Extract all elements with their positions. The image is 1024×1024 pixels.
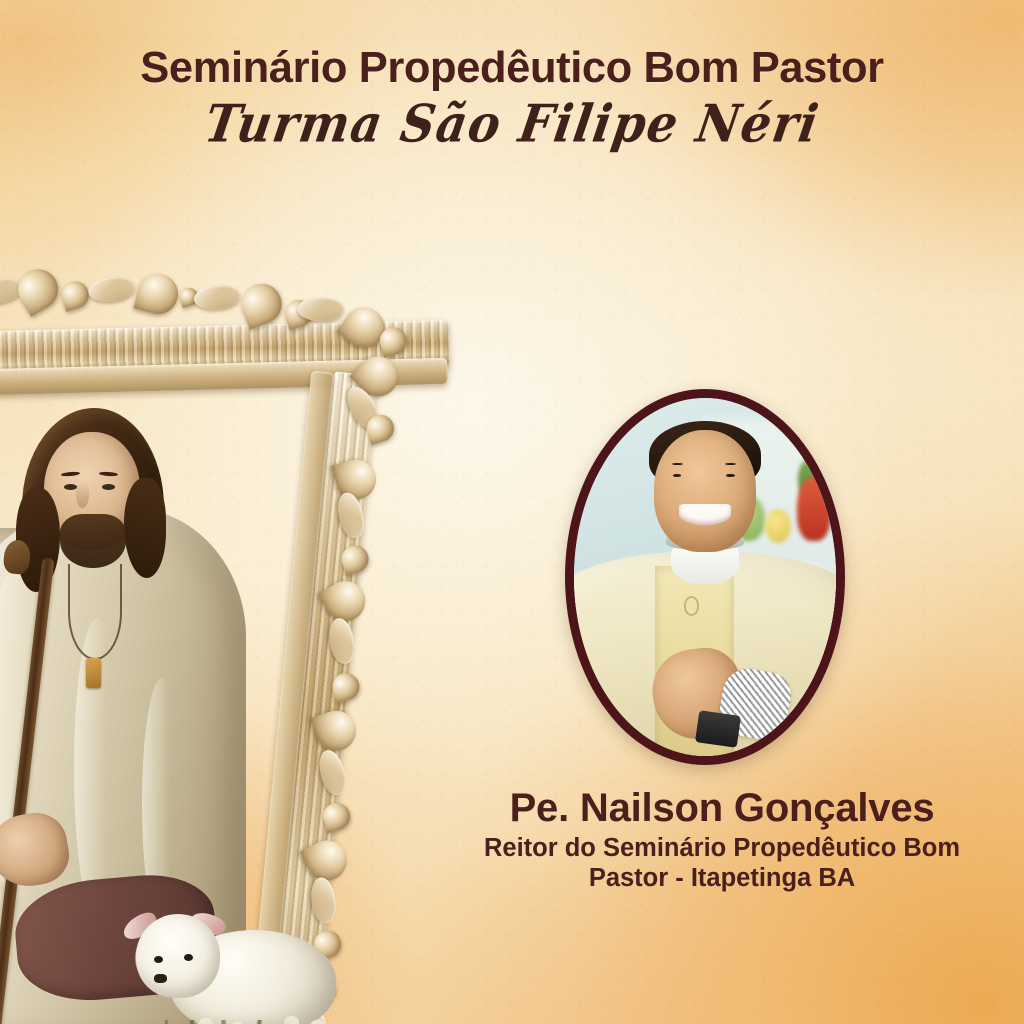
portrait-smile <box>679 504 731 525</box>
good-shepherd-artwork <box>0 250 526 1024</box>
lamb-head <box>136 914 220 998</box>
shepherd-hair-right <box>124 478 166 578</box>
header: Seminário Propedêutico Bom Pastor Turma … <box>0 44 1024 152</box>
portrait-red-flower <box>797 477 831 541</box>
rector-role-line2: Pastor - Itapetinga BA <box>436 864 1008 894</box>
page-title: Seminário Propedêutico Bom Pastor <box>0 44 1024 93</box>
shepherd-beard <box>60 514 126 568</box>
rector-role: Reitor do Seminário Propedêutico Bom Pas… <box>436 834 1008 893</box>
rector-caption: Pe. Nailson Gonçalves Reitor do Seminári… <box>436 786 1008 893</box>
lamb-leg <box>310 1020 325 1024</box>
page-subtitle: Turma São Filipe Néri <box>0 94 1024 155</box>
shepherd-nose <box>76 482 89 508</box>
rector-role-line1: Reitor do Seminário Propedêutico Bom <box>436 834 1008 864</box>
portrait-wristwatch <box>695 710 741 748</box>
shepherd-neck-cord <box>68 564 122 660</box>
rector-portrait <box>565 389 845 765</box>
poster-canvas: Seminário Propedêutico Bom Pastor Turma … <box>0 0 1024 1024</box>
portrait-face <box>654 430 756 552</box>
rector-name: Pe. Nailson Gonçalves <box>436 786 1008 831</box>
lamb-figure <box>126 898 336 1024</box>
shepherd-pendant <box>86 658 101 688</box>
grass-tufts <box>156 1020 306 1024</box>
